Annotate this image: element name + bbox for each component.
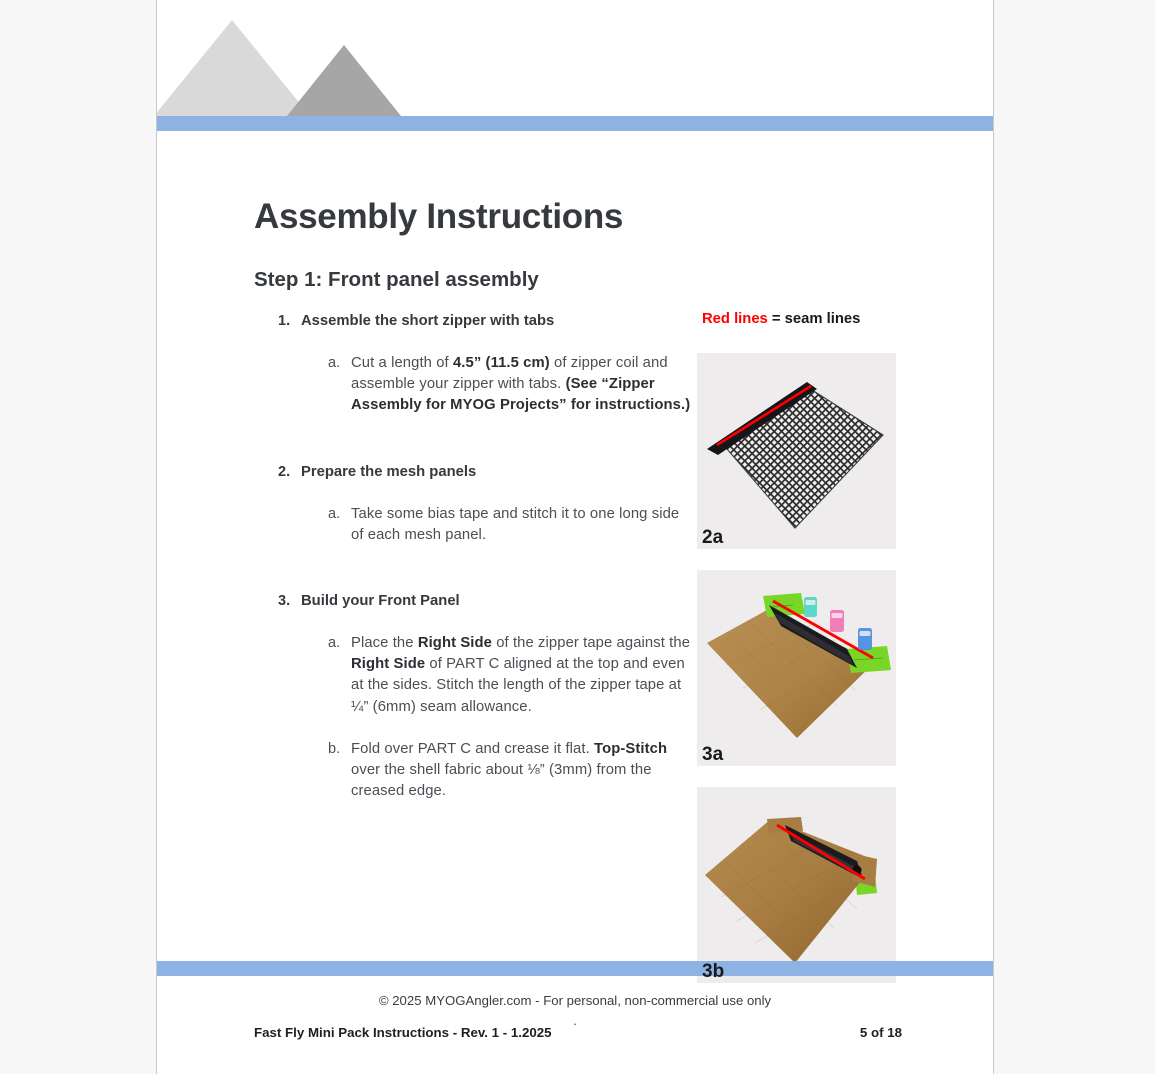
step-3b-text: Fold over PART C and crease it flat. Top… <box>351 741 667 799</box>
step-3-row: 3. Build your Front Panel <box>254 591 694 612</box>
screenshot-viewport: Assembly Instructions Step 1: Front pane… <box>0 0 1155 1074</box>
photo-2a: 2a <box>697 353 896 549</box>
instruction-list: 1. Assemble the short zipper with tabs a… <box>254 311 694 802</box>
photo-3b-image <box>697 787 896 983</box>
list-item: 2. Prepare the mesh panels a. Take some … <box>254 462 694 546</box>
list-item: b. Fold over PART C and crease it flat. … <box>254 739 694 803</box>
page-content: Assembly Instructions Step 1: Front pane… <box>157 131 993 976</box>
step-1-marker: 1. <box>278 311 290 332</box>
list-item: a. Place the Right Side of the zipper ta… <box>254 633 694 718</box>
list-item: 3. Build your Front Panel a. Place the R… <box>254 591 694 802</box>
spacer <box>254 417 694 462</box>
photo-3b: 3b <box>697 787 896 983</box>
step-2-sublist: a. Take some bias tape and stitch it to … <box>254 504 694 546</box>
step-3-title: Build your Front Panel <box>301 593 460 609</box>
photo-3a-label: 3a <box>702 744 723 765</box>
page-footer: © 2025 MYOGAngler.com - For personal, no… <box>157 961 993 1074</box>
list-item: 1. Assemble the short zipper with tabs a… <box>254 311 694 417</box>
step-2-title: Prepare the mesh panels <box>301 464 476 480</box>
step-3-sublist: a. Place the Right Side of the zipper ta… <box>254 633 694 802</box>
page-title: Assembly Instructions <box>254 197 623 237</box>
photo-3a: 3a <box>697 570 896 766</box>
document-page: Assembly Instructions Step 1: Front pane… <box>156 0 994 1074</box>
spacer <box>254 718 694 739</box>
step-2-row: 2. Prepare the mesh panels <box>254 462 694 483</box>
step-1-row: 1. Assemble the short zipper with tabs <box>254 311 694 332</box>
step-3b-marker: b. <box>328 739 340 760</box>
list-item: a. Take some bias tape and stitch it to … <box>254 504 694 546</box>
legend-rest-label: = seam lines <box>768 311 861 327</box>
photo-2a-image <box>697 353 896 549</box>
photo-column: Red lines = seam lines <box>697 311 902 1004</box>
photo-3b-label: 3b <box>702 961 724 982</box>
step-2a-text: Take some bias tape and stitch it to one… <box>351 506 679 543</box>
footer-accent-bar <box>157 961 993 976</box>
document-reference: Fast Fly Mini Pack Instructions - Rev. 1… <box>254 1025 552 1040</box>
mountain-dark-icon <box>287 45 401 116</box>
step-2a-marker: a. <box>328 504 340 525</box>
list-item: a. Cut a length of 4.5” (11.5 cm) of zip… <box>254 353 694 417</box>
step-1a-marker: a. <box>328 353 340 374</box>
step-1a-text: Cut a length of 4.5” (11.5 cm) of zipper… <box>351 355 690 413</box>
step-heading: Step 1: Front panel assembly <box>254 268 539 292</box>
copyright-text: © 2025 MYOGAngler.com - For personal, no… <box>157 993 993 1008</box>
header-accent-bar <box>157 116 993 131</box>
photo-2a-label: 2a <box>702 527 723 548</box>
step-1-sublist: a. Cut a length of 4.5” (11.5 cm) of zip… <box>254 353 694 417</box>
seam-line-legend: Red lines = seam lines <box>697 311 902 327</box>
page-number: 5 of 18 <box>860 1025 902 1040</box>
step-3-marker: 3. <box>278 591 290 612</box>
spacer <box>254 546 694 591</box>
step-1-title: Assemble the short zipper with tabs <box>301 313 554 329</box>
step-2-marker: 2. <box>278 462 290 483</box>
photo-3a-image <box>697 570 896 766</box>
step-3a-text: Place the Right Side of the zipper tape … <box>351 635 690 715</box>
step-3a-marker: a. <box>328 633 340 654</box>
page-header <box>157 0 993 116</box>
legend-red-label: Red lines <box>702 311 768 327</box>
